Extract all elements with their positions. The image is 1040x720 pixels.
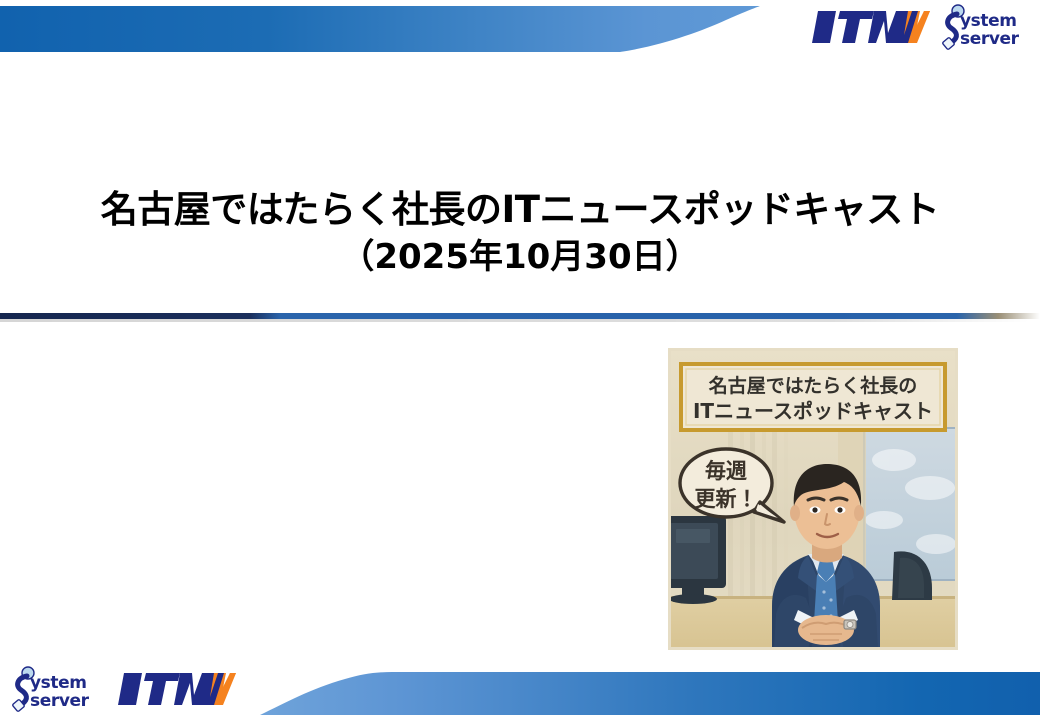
podcast-cover-art: 名古屋ではたらく社長の ITニュースポッドキャスト bbox=[668, 348, 958, 650]
cover-banner-line1: 名古屋ではたらく社長の bbox=[709, 374, 918, 397]
cover-banner-line2: ITニュースポッドキャスト bbox=[693, 399, 933, 423]
system-server-logo: ystem server bbox=[938, 4, 1034, 50]
cover-bubble-line2: 更新！ bbox=[695, 487, 758, 511]
slide-title-main: 名古屋ではたらく社長のITニュースポッドキャスト bbox=[0, 186, 1040, 233]
system-server-logo: ystem server bbox=[8, 666, 104, 712]
svg-text:server: server bbox=[960, 29, 1020, 49]
cover-bubble-line1: 毎週 bbox=[705, 459, 747, 483]
header-decorative-band bbox=[0, 6, 820, 52]
slide-title-block: 名古屋ではたらく社長のITニュースポッドキャスト （2025年10月30日） bbox=[0, 186, 1040, 280]
title-divider-shadow bbox=[0, 319, 1040, 322]
footer-logo-group: ystem server bbox=[8, 666, 236, 712]
svg-text:ystem: ystem bbox=[960, 11, 1017, 31]
itw-logo bbox=[118, 669, 236, 709]
slide-root: ystem server 名古屋ではたらく社長のITニュースポッドキャスト （2… bbox=[0, 0, 1040, 720]
svg-text:ystem: ystem bbox=[30, 673, 87, 693]
itw-logo bbox=[812, 7, 930, 47]
slide-title-date: （2025年10月30日） bbox=[0, 235, 1040, 279]
header-logo-group: ystem server bbox=[812, 4, 1034, 50]
svg-text:server: server bbox=[30, 691, 90, 711]
